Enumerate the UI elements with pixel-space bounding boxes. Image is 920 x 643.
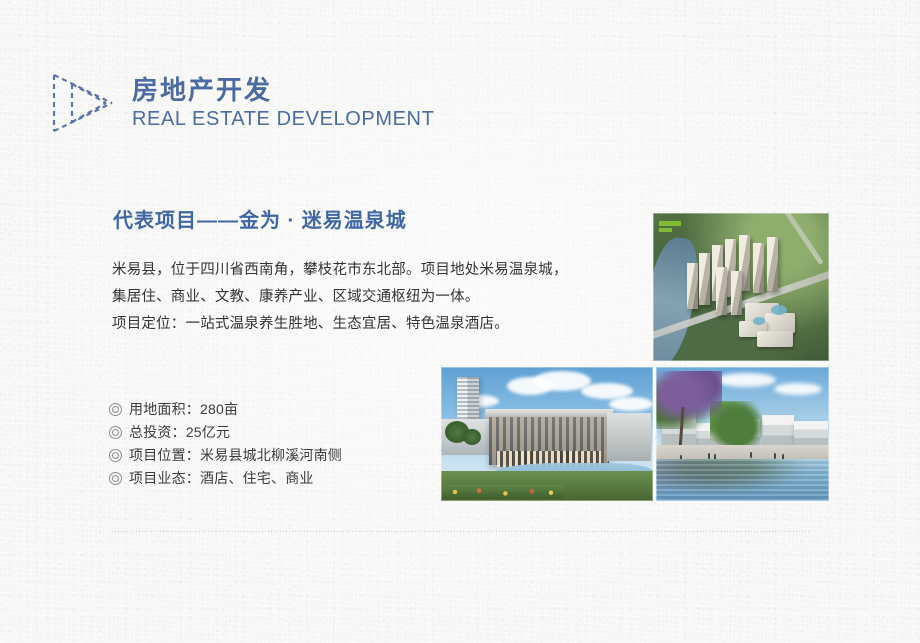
fact-label: 总投资：: [129, 421, 186, 444]
section-title: 代表项目——金为 · 迷易温泉城: [113, 204, 407, 233]
list-item: 项目位置： 米易县城北柳溪河南侧: [109, 444, 342, 467]
double-circle-bullet-icon: [109, 426, 122, 439]
description-line: 集居住、商业、文教、康养产业、区域交通枢纽为一体。: [112, 284, 632, 311]
page-title-en: REAL ESTATE DEVELOPMENT: [132, 108, 434, 130]
fact-label: 项目业态：: [129, 467, 200, 490]
fact-value: 25亿元: [186, 421, 230, 444]
aerial-masterplan-rendering: [653, 213, 829, 361]
fact-value: 280亩: [200, 398, 238, 421]
description-line: 项目定位：一站式温泉养生胜地、生态宜居、特色温泉酒店。: [112, 311, 632, 338]
double-circle-bullet-icon: [109, 449, 122, 462]
header-text-block: 房地产开发 REAL ESTATE DEVELOPMENT: [132, 76, 434, 131]
courtyard-landscape-rendering: [656, 367, 829, 501]
double-circle-bullet-icon: [109, 472, 122, 485]
image-watermark: [659, 221, 681, 226]
fact-value: 酒店、住宅、商业: [200, 467, 314, 490]
dashed-triangle-play-icon: [48, 70, 120, 136]
page-header: 房地产开发 REAL ESTATE DEVELOPMENT: [48, 70, 434, 136]
image-watermark: [659, 228, 672, 232]
list-item: 项目业态： 酒店、住宅、商业: [109, 467, 342, 490]
fact-label: 用地面积：: [129, 398, 200, 421]
project-description: 米易县，位于四川省西南角，攀枝花市东北部。项目地处米易温泉城， 集居住、商业、文…: [112, 257, 632, 338]
page-title-cn: 房地产开发: [132, 76, 434, 106]
fact-label: 项目位置：: [129, 444, 200, 467]
fact-value: 米易县城北柳溪河南侧: [200, 444, 342, 467]
commercial-center-rendering: [441, 367, 653, 501]
double-circle-bullet-icon: [109, 403, 122, 416]
description-line: 米易县，位于四川省西南角，攀枝花市东北部。项目地处米易温泉城，: [112, 257, 632, 284]
bottom-divider: [112, 531, 809, 532]
list-item: 总投资： 25亿元: [109, 421, 342, 444]
project-facts-list: 用地面积： 280亩 总投资： 25亿元 项目位置： 米易县城北柳溪河南侧 项目…: [109, 398, 342, 490]
list-item: 用地面积： 280亩: [109, 398, 342, 421]
